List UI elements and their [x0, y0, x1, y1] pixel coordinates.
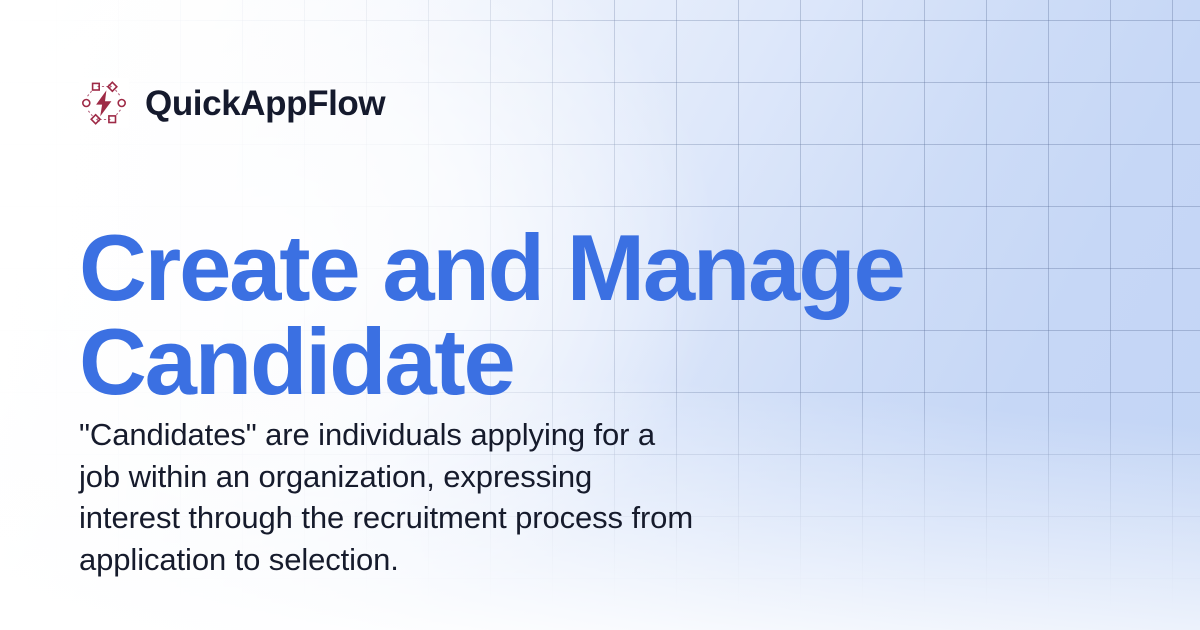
brand-lockup: QuickAppFlow: [79, 78, 385, 128]
banner-content: QuickAppFlow Create and Manage Candidate…: [79, 0, 1119, 630]
brand-name: QuickAppFlow: [145, 86, 385, 121]
page-title: Create and Manage Candidate: [79, 221, 1039, 409]
page-description: "Candidates" are individuals applying fo…: [79, 414, 899, 580]
banner-card: QuickAppFlow Create and Manage Candidate…: [0, 0, 1200, 630]
workflow-lightning-icon: [79, 78, 129, 128]
